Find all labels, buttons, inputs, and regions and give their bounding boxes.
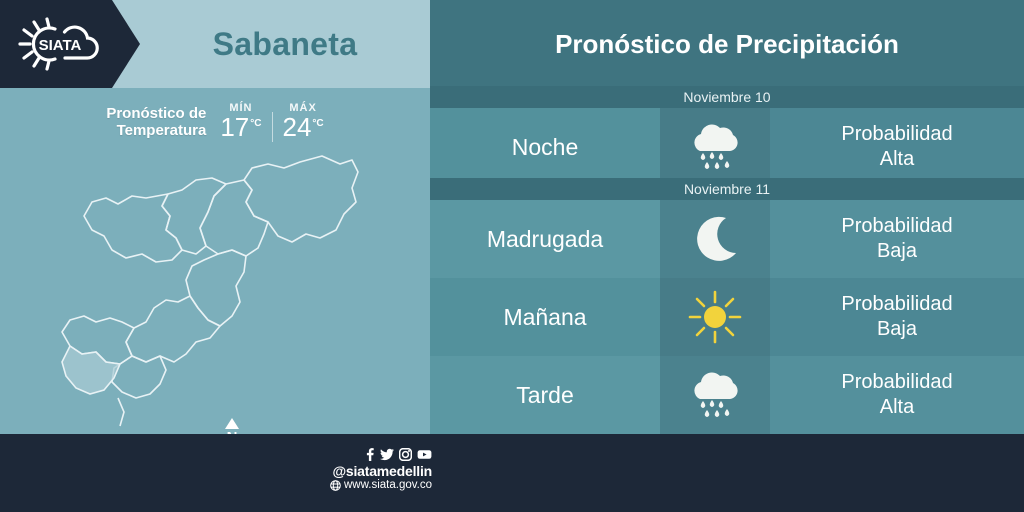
rain-cloud-glyph <box>683 119 747 175</box>
forecast-probability: ProbabilidadBaja <box>770 200 1024 278</box>
temperature-divider <box>272 112 273 142</box>
forecast-probability: ProbabilidadBaja <box>770 278 1024 356</box>
twitter-icon[interactable] <box>380 448 394 461</box>
forecast-probability: ProbabilidadAlta <box>770 356 1024 434</box>
map-highlight-sabaneta <box>62 346 120 394</box>
temperature-title-line1: Pronóstico de <box>106 105 206 122</box>
rain-cloud-glyph <box>683 367 747 423</box>
left-panel: SIATA Sabaneta Pronóstico de Temperatura… <box>0 0 430 434</box>
sun-glyph <box>686 288 744 346</box>
probability-line2: Alta <box>880 148 914 170</box>
probability-line2: Alta <box>880 396 914 418</box>
forecast-row[interactable]: Madrugada ProbabilidadBaja <box>430 200 1024 278</box>
temperature-min-value: 17 <box>220 112 249 142</box>
globe-icon <box>330 480 341 491</box>
forecast-row[interactable]: Noche ProbabilidadAlta <box>430 108 1024 186</box>
forecast-probability: ProbabilidadAlta <box>770 108 1024 186</box>
temperature-min-value-wrap: 17°C <box>220 114 261 140</box>
siata-logo-text: SIATA <box>39 37 82 54</box>
temperature-title: Pronóstico de Temperatura <box>106 105 206 140</box>
temperature-values: MÍN 17°C MÁX 24°C <box>220 102 323 142</box>
temperature-min-label: MÍN <box>220 102 261 114</box>
date-band-second: Noviembre 11 <box>430 178 1024 200</box>
website-line[interactable]: www.siata.gov.co <box>312 479 432 491</box>
forecast-period: Madrugada <box>430 200 660 278</box>
forecast-panel: Pronóstico de Precipitación Noviembre 10… <box>430 0 1024 434</box>
forecast-title: Pronóstico de Precipitación <box>430 0 1024 88</box>
moon-glyph <box>688 212 742 266</box>
temperature-block: Pronóstico de Temperatura MÍN 17°C MÁX 2… <box>0 88 430 156</box>
temperature-max-label: MÁX <box>283 102 324 114</box>
instagram-icon[interactable] <box>399 448 412 461</box>
footer: @siatamedellin www.siata.gov.co Con el a… <box>0 434 1024 512</box>
temperature-max: MÁX 24°C <box>283 102 324 140</box>
probability-line1: Probabilidad <box>841 293 952 315</box>
forecast-row[interactable]: Mañana Probabili <box>430 278 1024 356</box>
rain-cloud-icon <box>660 108 770 186</box>
siata-logo-badge: SIATA <box>0 0 140 88</box>
temperature-min-unit: °C <box>250 118 261 129</box>
north-arrow-triangle <box>225 418 239 429</box>
facebook-icon[interactable] <box>364 448 375 461</box>
temperature-min: MÍN 17°C <box>220 102 261 140</box>
siata-sun-cloud-logo-icon: SIATA <box>8 13 112 75</box>
sun-icon <box>660 278 770 356</box>
forecast-row[interactable]: Tarde ProbabilidadAlta <box>430 356 1024 434</box>
temperature-max-unit: °C <box>312 118 323 129</box>
forecast-period: Noche <box>430 108 660 186</box>
probability-line1: Probabilidad <box>841 215 952 237</box>
temperature-max-value: 24 <box>283 112 312 142</box>
forecast-period: Mañana <box>430 278 660 356</box>
aburra-valley-map: N <box>0 150 430 434</box>
temperature-title-line2: Temperatura <box>106 122 206 139</box>
probability-line2: Baja <box>877 318 917 340</box>
probability-line1: Probabilidad <box>841 371 952 393</box>
probability-line2: Baja <box>877 240 917 262</box>
left-header: SIATA Sabaneta <box>0 0 430 88</box>
date-band-first: Noviembre 10 <box>430 86 1024 108</box>
social-handle[interactable]: @siatamedellin <box>312 463 432 479</box>
temperature-max-value-wrap: 24°C <box>283 114 324 140</box>
moon-icon <box>660 200 770 278</box>
probability-line1: Probabilidad <box>841 123 952 145</box>
forecast-period: Tarde <box>430 356 660 434</box>
map-svg <box>0 150 430 434</box>
social-icons <box>312 448 432 461</box>
weather-infographic: SIATA Sabaneta Pronóstico de Temperatura… <box>0 0 1024 512</box>
social-block: @siatamedellin www.siata.gov.co <box>312 448 432 491</box>
website-url: www.siata.gov.co <box>344 479 432 491</box>
city-title: Sabaneta <box>140 0 430 88</box>
youtube-icon[interactable] <box>417 448 432 461</box>
rain-cloud-icon <box>660 356 770 434</box>
